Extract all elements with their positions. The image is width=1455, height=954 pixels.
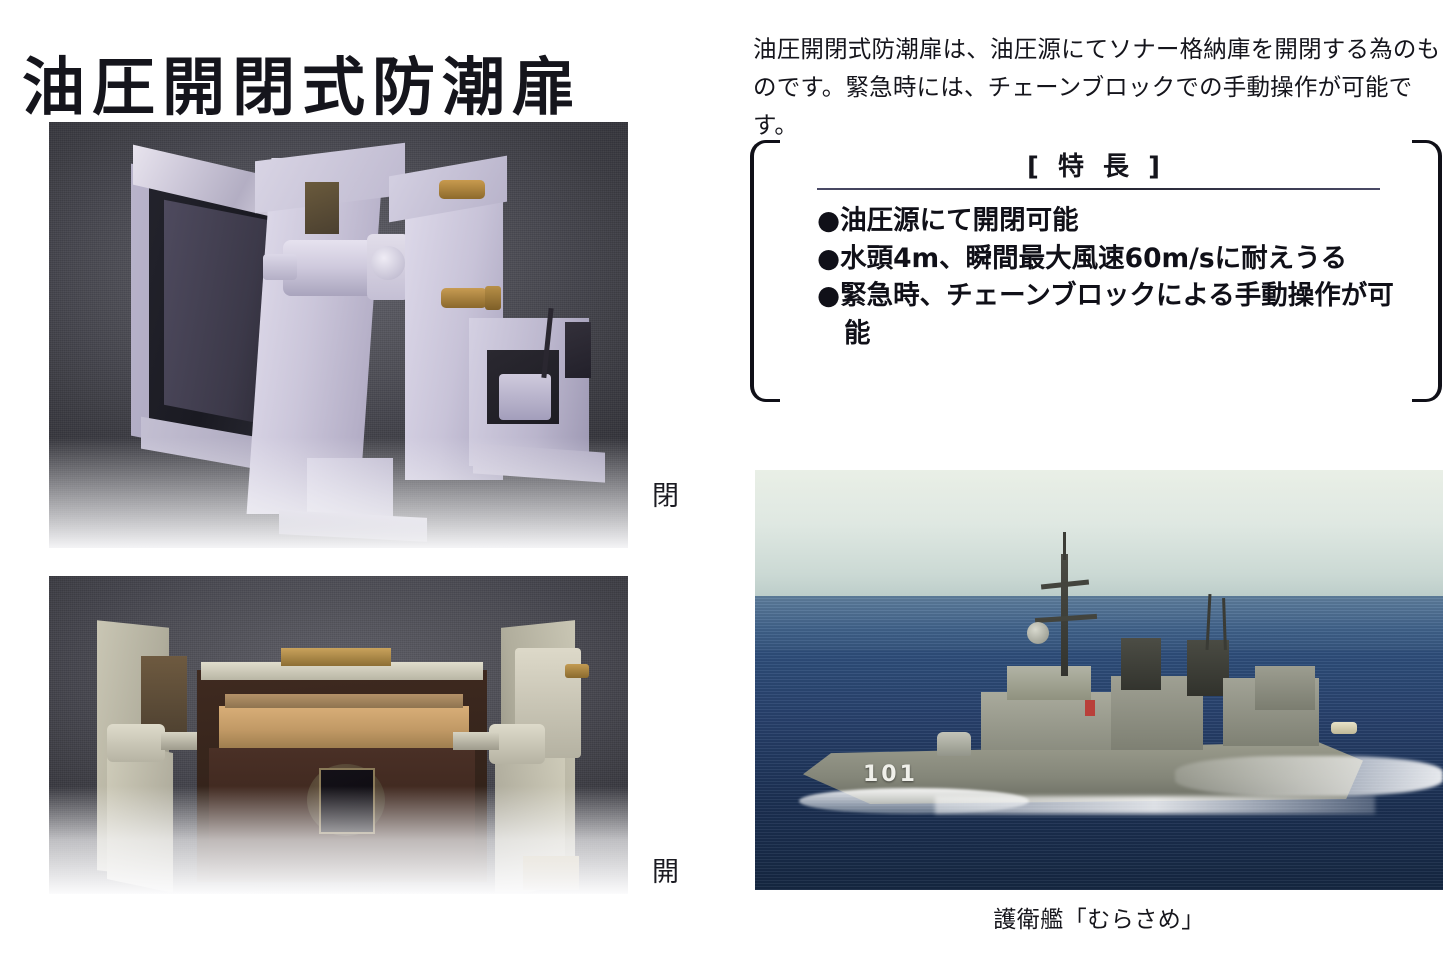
- brass-fitting-lower: [441, 288, 487, 308]
- features-heading: [ 特 長 ]: [750, 146, 1442, 183]
- feature-item: ●油圧源にて開閉可能: [817, 202, 1402, 240]
- door-leaf-inner-panel: [164, 200, 269, 425]
- state-label-open: 開: [652, 850, 680, 889]
- right-brass-fitting: [565, 664, 589, 678]
- brass-port-cap: [485, 286, 501, 310]
- ship-funnel-forward: [1121, 638, 1161, 690]
- photo-door-closed: [49, 122, 628, 548]
- intro-paragraph: 油圧開閉式防潮扉は、油圧源にてソナー格納庫を開閉する為のものです。緊急時には、チ…: [753, 30, 1443, 144]
- ship-helicopter: [1331, 722, 1357, 734]
- left-bearing-hub: [107, 724, 165, 762]
- photo-floor-fade: [49, 437, 628, 548]
- ship-hangar: [1255, 666, 1315, 710]
- photo-door-open: [49, 576, 628, 894]
- machine-upper-dark-inset: [305, 182, 339, 234]
- ship-caption: 護衛艦「むらさめ」: [755, 900, 1443, 934]
- features-box: [ 特 長 ] ●油圧源にて開閉可能 ●水頭4m、瞬間最大風速60m/sに耐えう…: [750, 140, 1442, 396]
- photo-ship: 101: [755, 470, 1443, 890]
- open-door-panel-edge: [225, 694, 463, 708]
- ship-flag-marking: [1085, 700, 1095, 716]
- sky-region: [755, 470, 1443, 604]
- feature-item: ●緊急時、チェーンブロックによる手動操作が可能: [817, 277, 1402, 352]
- feature-item: ●水頭4m、瞬間最大風速60m/sに耐えうる: [817, 240, 1402, 278]
- state-label-closed: 閉: [652, 474, 680, 513]
- photo-floor-fade: [49, 786, 628, 894]
- features-list: ●油圧源にて開閉可能 ●水頭4m、瞬間最大風速60m/sに耐えうる ●緊急時、チ…: [817, 202, 1402, 353]
- features-divider: [817, 188, 1380, 190]
- cylinder-flange-disc: [371, 246, 405, 280]
- ship-hull-number: 101: [863, 762, 953, 788]
- ship-mast-top-antenna: [1063, 532, 1066, 560]
- locker-top-fittings: [281, 648, 391, 666]
- hpu-side-dark-panel: [565, 322, 591, 378]
- ship-radar-dome: [1027, 622, 1049, 644]
- ship-gun-mount: [937, 732, 971, 756]
- cylinder-rod: [263, 254, 297, 280]
- open-door-panel: [219, 706, 469, 748]
- ship-wake-aft: [1175, 756, 1443, 796]
- ship-bridge: [1007, 666, 1091, 700]
- right-shaft: [453, 732, 499, 750]
- brass-fitting-upper: [439, 180, 485, 199]
- page-title: 油圧開閉式防潮扉: [22, 48, 682, 129]
- ship-wake-trail: [935, 796, 1375, 814]
- hpu-motor: [499, 374, 551, 420]
